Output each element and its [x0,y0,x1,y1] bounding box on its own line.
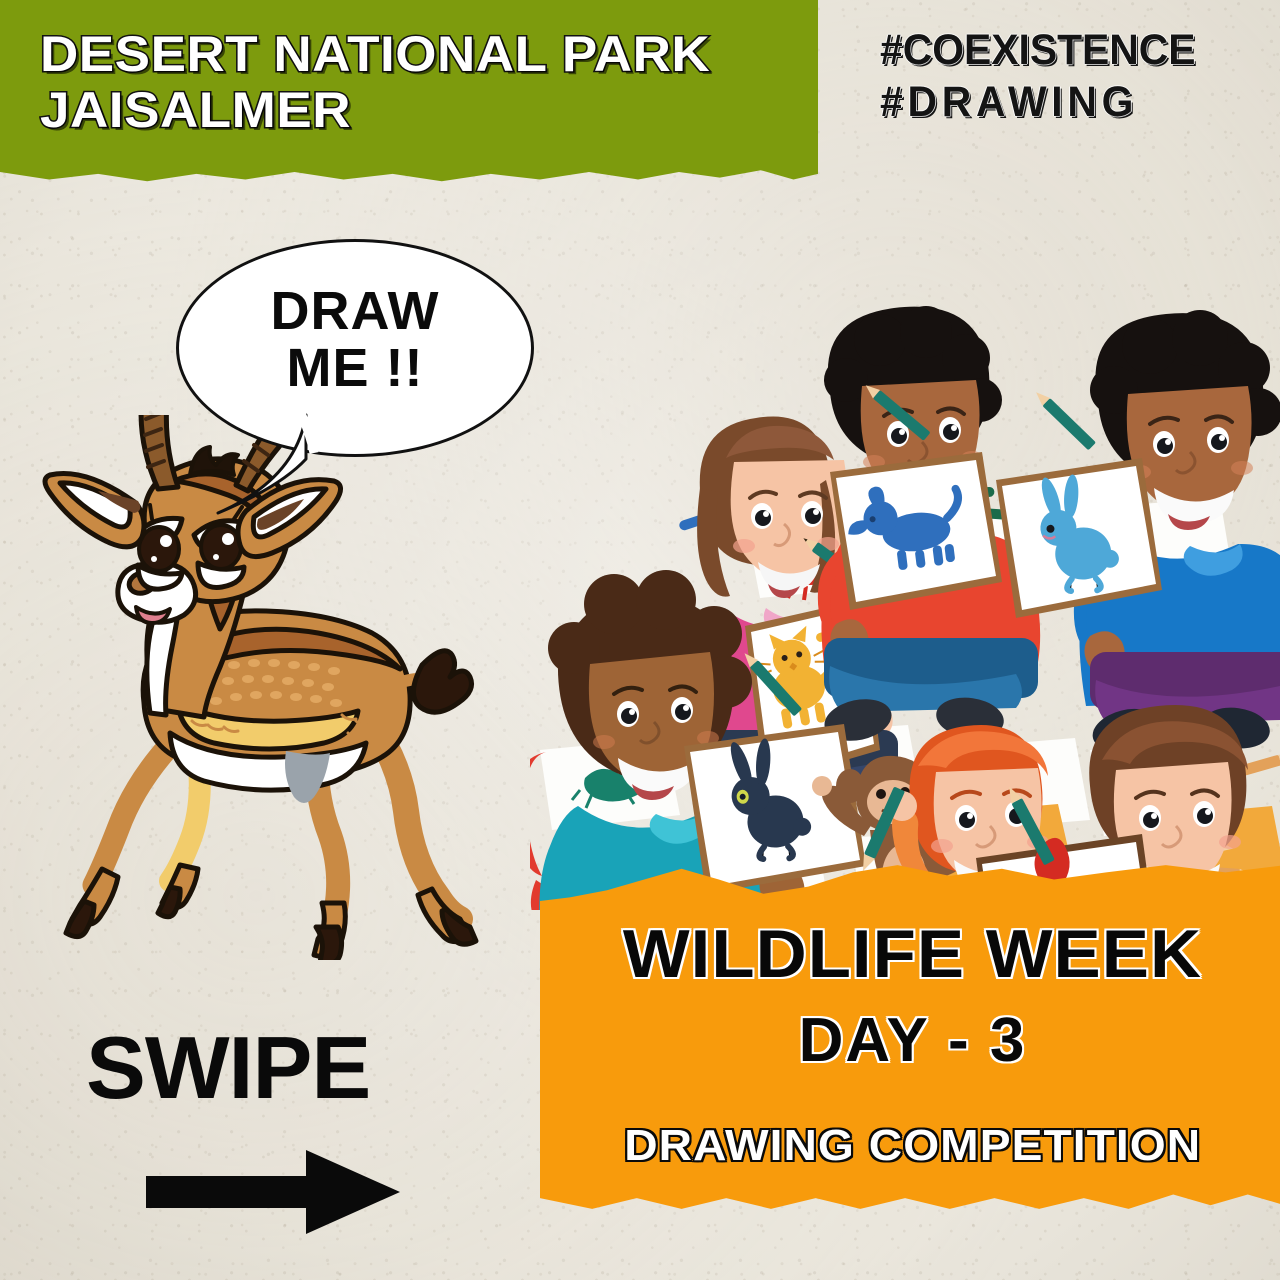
hashtag-drawing: #DRAWING [880,76,1196,128]
swipe-label[interactable]: SWIPE [86,1024,370,1112]
speech-bubble: DRAW ME !! [176,239,534,457]
park-title: DESERT NATIONAL PARK JAISALMER [40,26,846,138]
park-title-line1: DESERT NATIONAL PARK [40,26,846,82]
swipe-arrow-right-icon[interactable] [146,1150,400,1234]
bubble-line1: DRAW [271,283,440,340]
bubble-line2: ME !! [287,340,424,397]
drawing-board-blue-dog [830,452,1002,610]
hashtag-coexistence: #COEXISTENCE [880,24,1196,76]
poster-canvas: DESERT NATIONAL PARK JAISALMER #COEXISTE… [0,0,1280,1280]
drawing-board-blue-rabbit [996,458,1162,618]
children-drawing-collage [530,190,1280,910]
orange-info-panel [540,858,1280,1216]
park-title-line2: JAISALMER [40,82,846,138]
pencil-boy-blue [1032,388,1096,450]
hashtag-block: #COEXISTENCE #DRAWING [880,24,1212,129]
speech-bubble-text: DRAW ME !! [176,231,534,449]
